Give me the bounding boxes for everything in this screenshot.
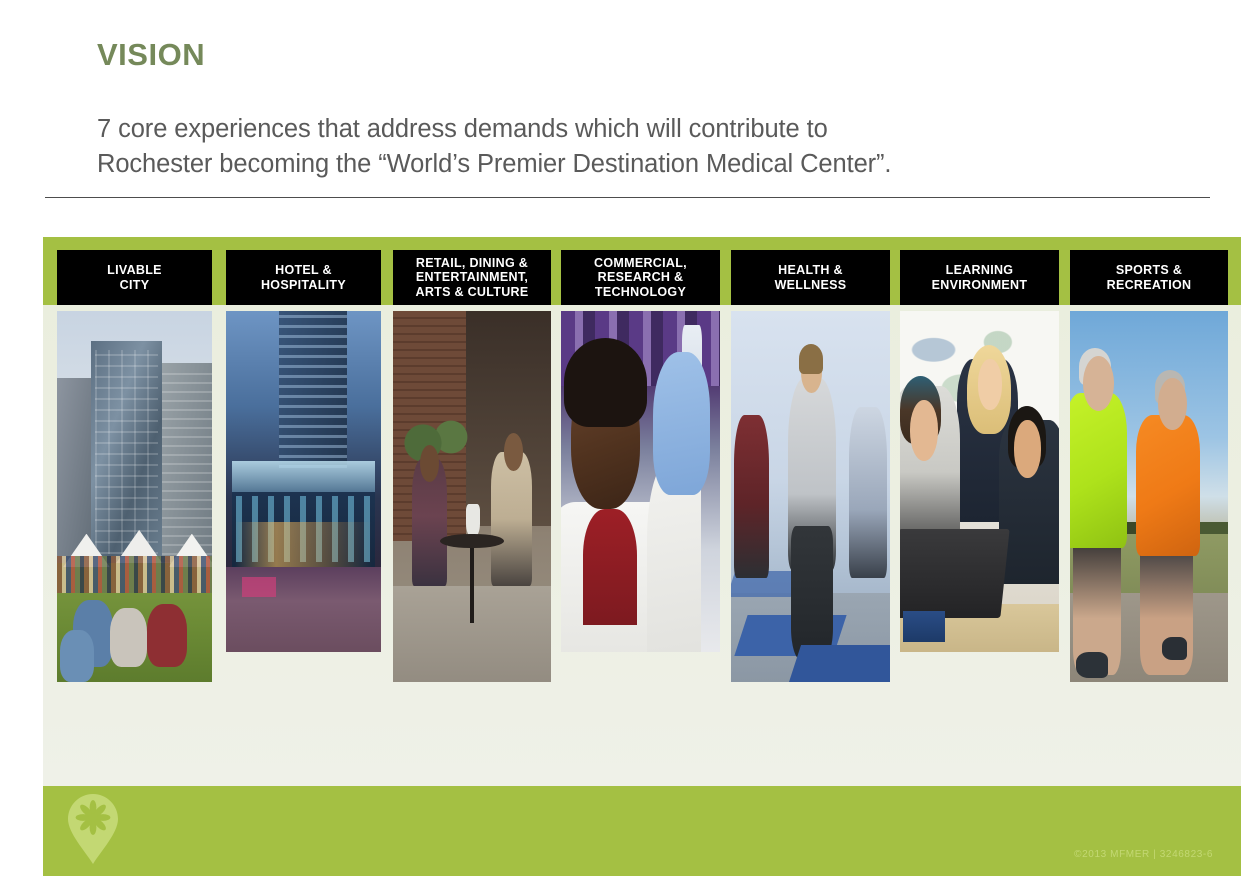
title-divider [45, 197, 1210, 198]
subtitle-line-1: 7 core experiences that address demands … [97, 112, 1222, 147]
copyright-text: ©2013 MFMER | 3246823-6 [1074, 849, 1213, 860]
slide-subtitle: 7 core experiences that address demands … [97, 112, 1222, 182]
content-panel [43, 237, 1241, 786]
subtitle-line-2: Rochester becoming the “World’s Premier … [97, 147, 1222, 182]
slide: VISION 7 core experiences that address d… [0, 0, 1257, 894]
footer-bar: ©2013 MFMER | 3246823-6 [43, 786, 1241, 876]
destination-medical-center-pin-logo-icon [67, 793, 119, 865]
header-green-band [43, 237, 1241, 305]
page-title: VISION [97, 38, 205, 72]
